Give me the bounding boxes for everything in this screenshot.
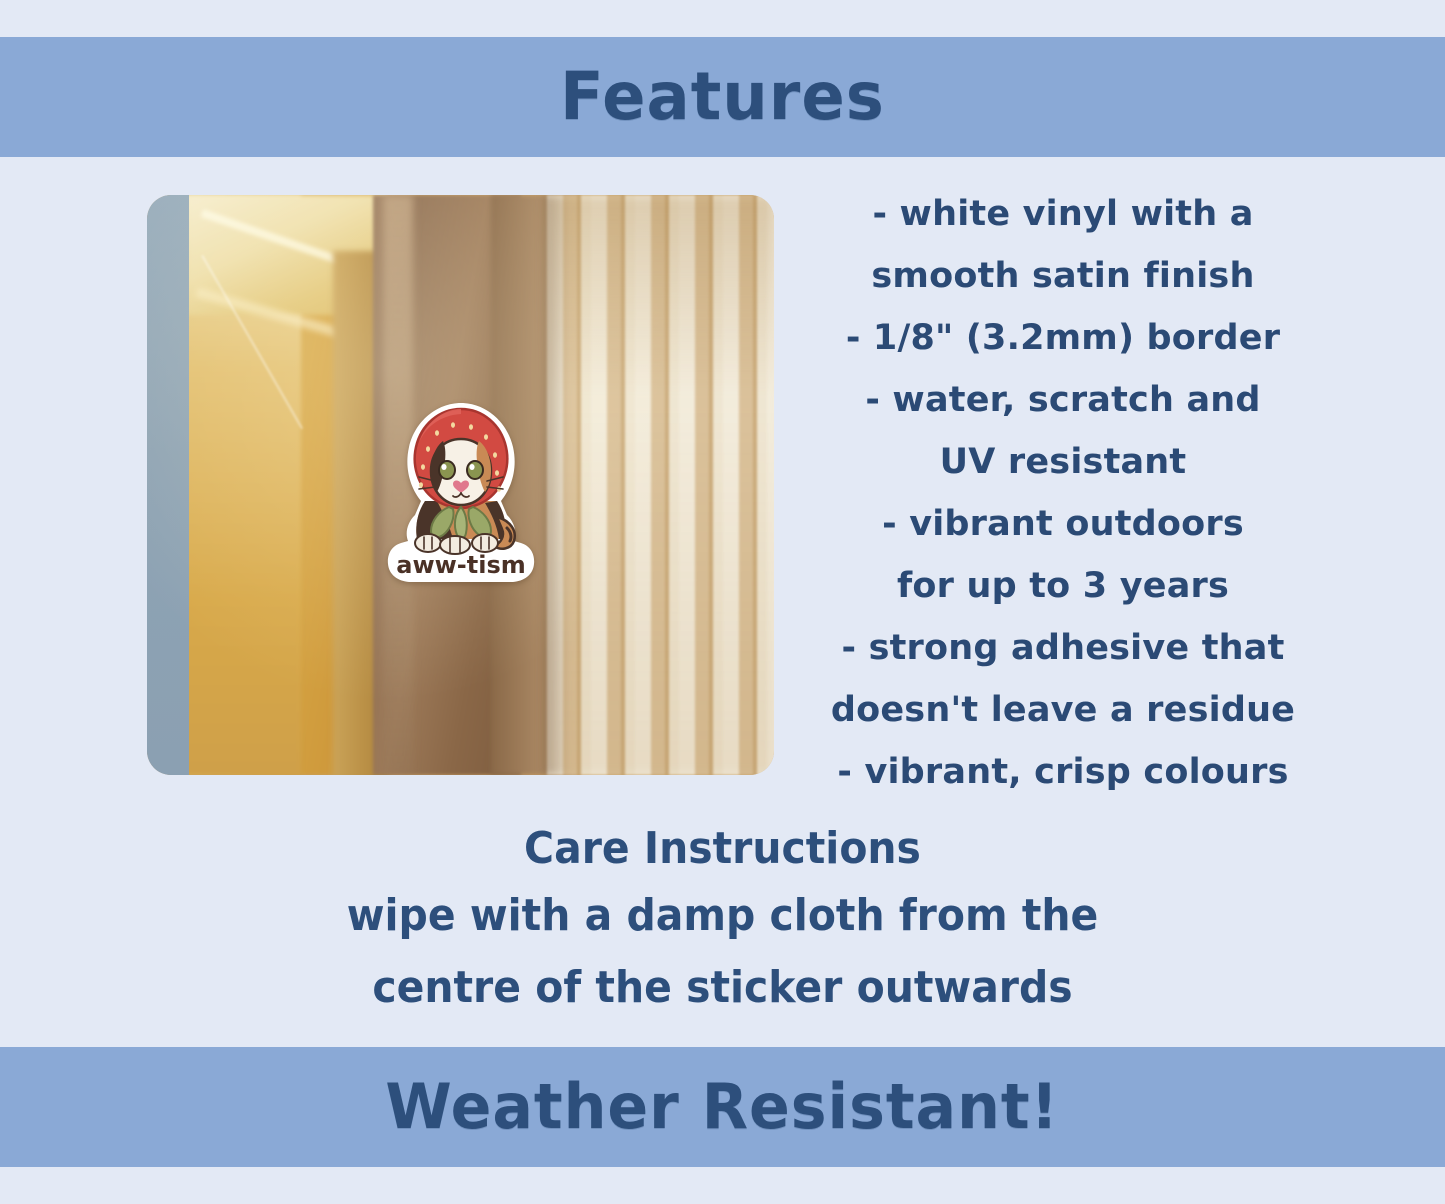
- feature-list: - white vinyl with a smooth satin finish…: [818, 183, 1308, 803]
- feature-item: - strong adhesive that: [818, 617, 1308, 679]
- page-title: Features: [560, 64, 885, 130]
- weather-resistant-title: Weather Resistant!: [386, 1076, 1060, 1138]
- feature-item: - vibrant, crisp colours: [818, 741, 1308, 803]
- care-instructions: Care Instructions wipe with a damp cloth…: [0, 818, 1445, 1024]
- feature-item: for up to 3 years: [818, 555, 1308, 617]
- feature-item: UV resistant: [818, 431, 1308, 493]
- feature-item: - water, scratch and: [818, 369, 1308, 431]
- care-instructions-line-2: centre of the sticker outwards: [51, 952, 1395, 1024]
- product-features-page: Features: [0, 0, 1445, 1204]
- weather-resistant-banner: Weather Resistant!: [0, 1047, 1445, 1167]
- feature-item: - white vinyl with a: [818, 183, 1308, 245]
- photo-canvas: aww-tism: [147, 195, 774, 775]
- feature-item: doesn't leave a residue: [818, 679, 1308, 741]
- product-photo: aww-tism: [147, 195, 774, 775]
- features-header-banner: Features: [0, 37, 1445, 157]
- sticker-caption: aww-tism: [396, 551, 526, 579]
- feature-item: - vibrant outdoors: [818, 493, 1308, 555]
- strawberry-cat-sticker: aww-tism: [381, 397, 541, 592]
- feature-item: - 1/8" (3.2mm) border: [818, 307, 1308, 369]
- care-instructions-title: Care Instructions: [51, 818, 1395, 880]
- care-instructions-line-1: wipe with a damp cloth from the: [51, 880, 1395, 952]
- feature-item: smooth satin finish: [818, 245, 1308, 307]
